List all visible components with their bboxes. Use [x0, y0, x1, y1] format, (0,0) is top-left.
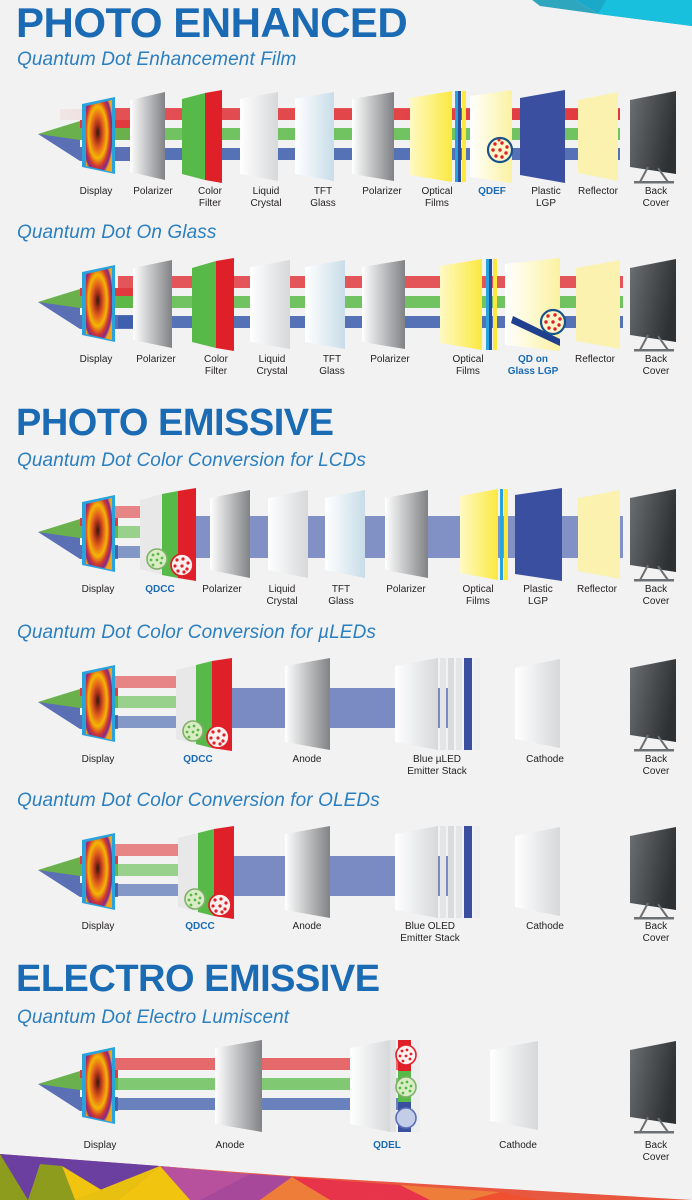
layer-label: Display — [53, 921, 143, 933]
diagram-subtitle-qdcc-lcd: Quantum Dot Color Conversion for LCDs — [17, 450, 366, 472]
layer-label: Back Cover — [611, 1140, 692, 1163]
layer-label: Back Cover — [611, 921, 692, 944]
panel-back-cover — [630, 259, 676, 352]
diagram-subtitle-qdef: Quantum Dot Enhancement Film — [17, 49, 296, 71]
panel-polarizer-1 — [133, 260, 172, 348]
panel-strip-yellow — [504, 489, 508, 580]
diagram-subtitle-qdcc-uled: Quantum Dot Color Conversion for µLEDs — [17, 622, 376, 644]
layer-label: QDEL — [342, 1140, 432, 1152]
panel-cathode — [515, 827, 560, 916]
diagram-qd-on-glass-svg — [0, 256, 692, 356]
top-wedge-svg — [480, 0, 692, 36]
panel-strip-cyan — [486, 259, 489, 350]
panel-reflector — [578, 490, 620, 579]
diagram-qd-on-glass — [0, 256, 692, 356]
diagram-subtitle-qd-on-glass: Quantum Dot On Glass — [17, 222, 216, 244]
panel-blue-uled-emitter-stack — [395, 658, 480, 750]
layer-label: Cathode — [500, 754, 590, 766]
panel-anode — [215, 1040, 262, 1132]
panel-reflector — [576, 260, 620, 349]
layer-label: Cathode — [473, 1140, 563, 1152]
layer-label: Polarizer — [345, 354, 435, 366]
panel-liquid-crystal — [240, 92, 278, 181]
panel-optical-films — [410, 91, 452, 182]
panel-color-filter-green — [192, 261, 216, 348]
qdcc-red-dot-circle — [207, 726, 229, 748]
panel-anode — [285, 826, 330, 918]
diagram-qdcc-oled-svg — [0, 824, 692, 924]
panel-color-filter-red — [216, 258, 234, 351]
qdcc-red-dot-circle — [209, 894, 231, 916]
panel-blue-oled-emitter-stack — [395, 826, 480, 918]
panel-display — [82, 1047, 115, 1124]
panel-cathode — [515, 659, 560, 748]
panel-back-cover — [630, 489, 676, 582]
diagram-qdel — [0, 1038, 692, 1138]
panel-strip-yellow — [493, 259, 497, 350]
section-heading-photo-enhanced: PHOTO ENHANCED — [16, 2, 407, 44]
panel-polarizer-1 — [210, 490, 250, 578]
layer-label: Anode — [262, 921, 352, 933]
diagram-qdcc-oled — [0, 824, 692, 924]
panel-back-cover — [630, 91, 676, 184]
diagram-qdcc-uled — [0, 656, 692, 756]
panel-liquid-crystal — [268, 490, 308, 578]
panel-polarizer-2 — [352, 92, 394, 181]
panel-qdef — [470, 90, 512, 183]
layer-label: Back Cover — [611, 584, 692, 607]
panel-color-filter-green — [182, 93, 205, 180]
panel-back-cover — [630, 827, 676, 920]
layer-label: Back Cover — [611, 354, 692, 377]
panel-color-filter-red — [205, 90, 222, 183]
panel-back-cover — [630, 1041, 676, 1134]
qdcc-green-dot-circle — [147, 549, 167, 569]
top-corner-decoration — [480, 0, 692, 36]
panel-polarizer-2 — [385, 490, 428, 578]
panel-display — [82, 97, 115, 174]
panel-display — [82, 833, 115, 910]
panel-optical-films — [460, 489, 498, 580]
panel-plastic-lgp — [520, 90, 565, 183]
layer-label: Display — [55, 1140, 145, 1152]
qdcc-green-dot-circle — [183, 721, 203, 741]
panel-strip-yellow — [462, 91, 466, 182]
layer-label: Blue µLED Emitter Stack — [392, 754, 482, 777]
panel-anode — [285, 658, 330, 750]
panel-tft-glass — [295, 92, 334, 181]
panel-reflector — [578, 92, 618, 181]
panel-strip-blue — [489, 259, 492, 350]
qdcc-red-dot-circle — [171, 554, 193, 576]
panel-strip-cyan — [500, 489, 503, 580]
panel-strip-blue — [458, 91, 461, 182]
layer-label: Back Cover — [611, 186, 692, 209]
diagram-qdcc-uled-svg — [0, 656, 692, 756]
diagram-qdcc-lcd-svg — [0, 486, 692, 586]
qdel-blue-dot-circle — [396, 1108, 416, 1128]
panel-display — [82, 495, 115, 572]
panel-cathode — [490, 1041, 538, 1130]
panel-tft-glass — [305, 260, 345, 349]
layer-label: Display — [53, 754, 143, 766]
qdef-dot-circle — [488, 138, 512, 162]
panel-plastic-lgp — [515, 488, 562, 581]
diagram-subtitle-qdcc-oled: Quantum Dot Color Conversion for OLEDs — [17, 790, 380, 812]
panel-display — [82, 665, 115, 742]
section-heading-photo-emissive: PHOTO EMISSIVE — [16, 404, 333, 442]
infographic-page: PHOTO ENHANCED Quantum Dot Enhancement F… — [0, 0, 692, 1200]
panel-optical-films — [440, 259, 482, 350]
layer-label: Back Cover — [611, 754, 692, 777]
diagram-subtitle-qdel: Quantum Dot Electro Lumiscent — [17, 1007, 289, 1029]
panel-tft-glass — [325, 490, 365, 578]
panel-display — [82, 265, 115, 342]
diagram-qdel-svg — [0, 1038, 692, 1138]
panel-polarizer-1 — [130, 92, 165, 180]
layer-label: QDCC — [155, 921, 245, 933]
qdel-green-dot-circle — [396, 1077, 416, 1097]
panel-polarizer-2 — [362, 260, 405, 349]
layer-label: Anode — [262, 754, 352, 766]
diagram-qdef — [0, 88, 692, 188]
panel-liquid-crystal — [250, 260, 290, 349]
qdel-red-dot-circle — [396, 1045, 416, 1065]
qd-on-glass-dot-circle — [541, 310, 565, 334]
panel-strip-cyan — [455, 91, 458, 182]
layer-label: Blue OLED Emitter Stack — [385, 921, 475, 944]
layer-label: Anode — [185, 1140, 275, 1152]
panel-back-cover — [630, 659, 676, 752]
layer-label: QDCC — [153, 754, 243, 766]
section-heading-electro-emissive: ELECTRO EMISSIVE — [16, 960, 380, 998]
qdcc-green-dot-circle — [185, 889, 205, 909]
layer-label: Cathode — [500, 921, 590, 933]
diagram-qdef-svg — [0, 88, 692, 188]
diagram-qdcc-lcd — [0, 486, 692, 586]
